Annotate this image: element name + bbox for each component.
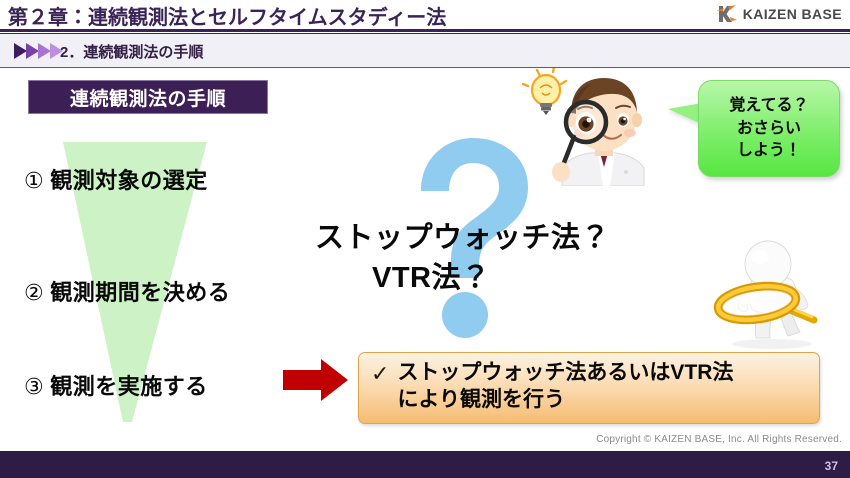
speech-bubble-tail	[668, 103, 702, 124]
step-item-2: ②観測期間を決める	[24, 275, 230, 307]
section-title-box: 連続観測法の手順	[28, 80, 268, 114]
step-number-1: ①	[24, 168, 44, 193]
conclusion-text: ストップウォッチ法あるいはVTR法により観測を行う	[397, 360, 733, 414]
section-title-label: 連続観測法の手順	[70, 84, 226, 111]
center-question-line-2: VTR法？	[372, 254, 491, 296]
speech-bubble-line-1: 覚えてる？	[729, 95, 808, 117]
conclusion-line-2: により観測を行う	[397, 388, 565, 411]
person-with-magnifier-icon	[520, 68, 670, 186]
slide-header: 第２章：連続観測法とセルフタイムスタディー法 KAIZEN BASE	[0, 0, 850, 30]
triple-chevron-right-icon	[14, 43, 60, 59]
center-question-line-1: ストップウォッチ法？	[315, 214, 610, 256]
conclusion-box: ✓ ストップウォッチ法あるいはVTR法により観測を行う	[358, 352, 820, 424]
step-label-3: 観測を実施する	[50, 374, 208, 399]
subheader-band: 2．連続観測法の手順	[0, 34, 850, 68]
speech-bubble-line-3: しよう！	[737, 140, 801, 162]
step-item-1: ①観測対象の選定	[24, 163, 208, 195]
brand-logo: KAIZEN BASE	[716, 4, 842, 24]
lightbulb-idea-icon	[523, 68, 566, 115]
page-number: 37	[825, 459, 838, 473]
brand-logo-text: KAIZEN BASE	[743, 6, 842, 22]
step-item-3: ③観測を実施する	[24, 369, 208, 401]
check-icon: ✓	[371, 363, 389, 385]
step-number-2: ②	[24, 280, 44, 305]
page-title: 第２章：連続観測法とセルフタイムスタディー法	[8, 1, 446, 30]
kaizen-k-mark-icon	[716, 4, 738, 24]
copyright-text: Copyright © KAIZEN BASE, Inc. All Rights…	[596, 434, 842, 445]
subheader-label: 2．連続観測法の手順	[60, 41, 203, 62]
step-label-1: 観測対象の選定	[50, 168, 208, 193]
footer-bar: 37	[0, 451, 850, 478]
speech-bubble-line-2: おさらい	[737, 118, 801, 140]
speech-bubble: 覚えてる？ おさらい しよう！	[698, 80, 840, 177]
slide-canvas: 第２章：連続観測法とセルフタイムスタディー法 KAIZEN BASE 2．連続観…	[0, 0, 850, 478]
right-block-arrow-icon	[283, 358, 349, 402]
conclusion-line-1: ストップウォッチ法あるいはVTR法	[397, 361, 733, 384]
3d-figure-with-magnifier-icon	[700, 238, 840, 350]
step-label-2: 観測期間を決める	[50, 280, 230, 305]
header-rule-thick	[0, 29, 850, 32]
step-number-3: ③	[24, 374, 44, 399]
